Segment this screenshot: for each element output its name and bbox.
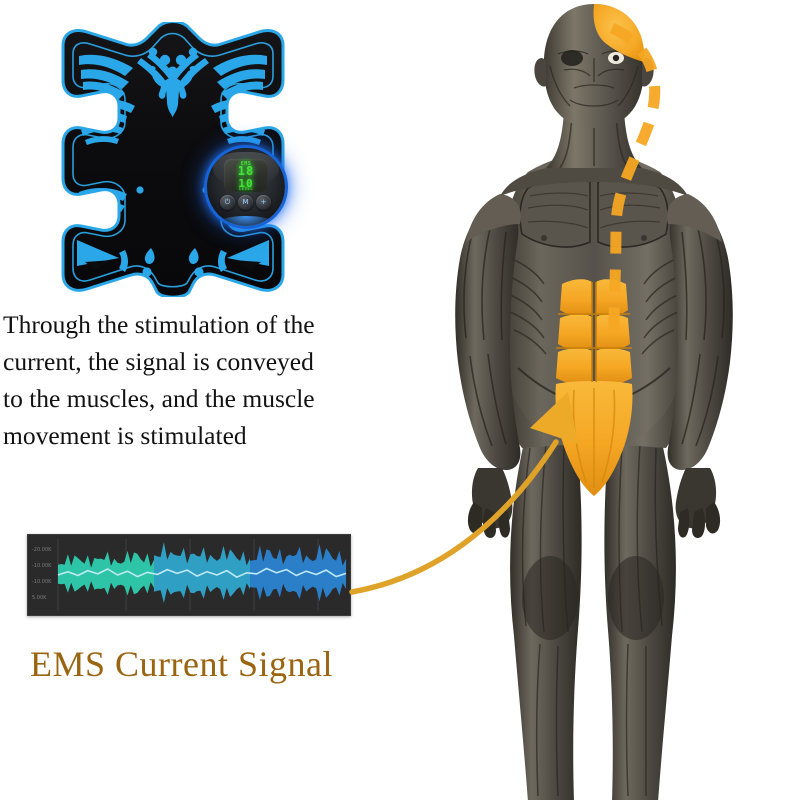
ear (534, 58, 546, 87)
ems-signal-chart: -20.00K-10.00K-10.00K5.00K (27, 534, 351, 616)
pad-dot (176, 55, 186, 65)
chart-tick-label: 5.00K (32, 595, 47, 601)
nipple (641, 235, 647, 241)
pad-dot (189, 48, 197, 56)
lcd-unit-label: LEVEL (224, 186, 268, 191)
paragraph-line-4: movement is stimulated (3, 417, 403, 454)
description-paragraph: Through the stimulation of the current, … (3, 306, 403, 454)
knee-shading (522, 556, 664, 640)
chart-caption: EMS Current Signal (30, 643, 333, 685)
chart-tick-label: -10.00K (32, 563, 52, 569)
lcd-display: EMS 18 10 LEVEL (224, 159, 268, 192)
anatomy-figure-graphic (378, 0, 800, 800)
intensity-button[interactable]: + (256, 195, 271, 210)
pad-dot (136, 186, 143, 193)
control-hub[interactable]: EMS 18 10 LEVEL ⏻ M + (207, 148, 285, 226)
power-button[interactable]: ⏻ (220, 195, 235, 210)
paragraph-line-3: to the muscles, and the muscle (3, 380, 403, 417)
chart-series-ems-burst-envelope-mid (154, 542, 250, 603)
ems-waveform-graphic: -20.00K-10.00K-10.00K5.00K (28, 535, 350, 615)
paragraph-line-2: current, the signal is conveyed (3, 343, 403, 380)
chart-tick-label: -20.00K (32, 547, 52, 553)
anatomy-figure (378, 0, 800, 800)
nipple (541, 235, 547, 241)
chart-tick-label: -10.00K (32, 579, 52, 585)
mode-button[interactable]: M (238, 195, 253, 210)
pad-dot (160, 55, 170, 65)
lcd-main-value: 18 (224, 166, 268, 177)
chart-series-ems-burst-envelope-right (250, 544, 346, 601)
paragraph-line-1: Through the stimulation of the (3, 306, 403, 343)
ems-gel-pad[interactable]: EMS 18 10 LEVEL ⏻ M + (55, 22, 310, 297)
hub-underglow (216, 216, 276, 226)
ear (642, 58, 654, 87)
left-eye-socket (561, 50, 583, 66)
pad-dot (149, 48, 157, 56)
product-infographic: EMS 18 10 LEVEL ⏻ M + Through the stimul… (0, 0, 800, 800)
